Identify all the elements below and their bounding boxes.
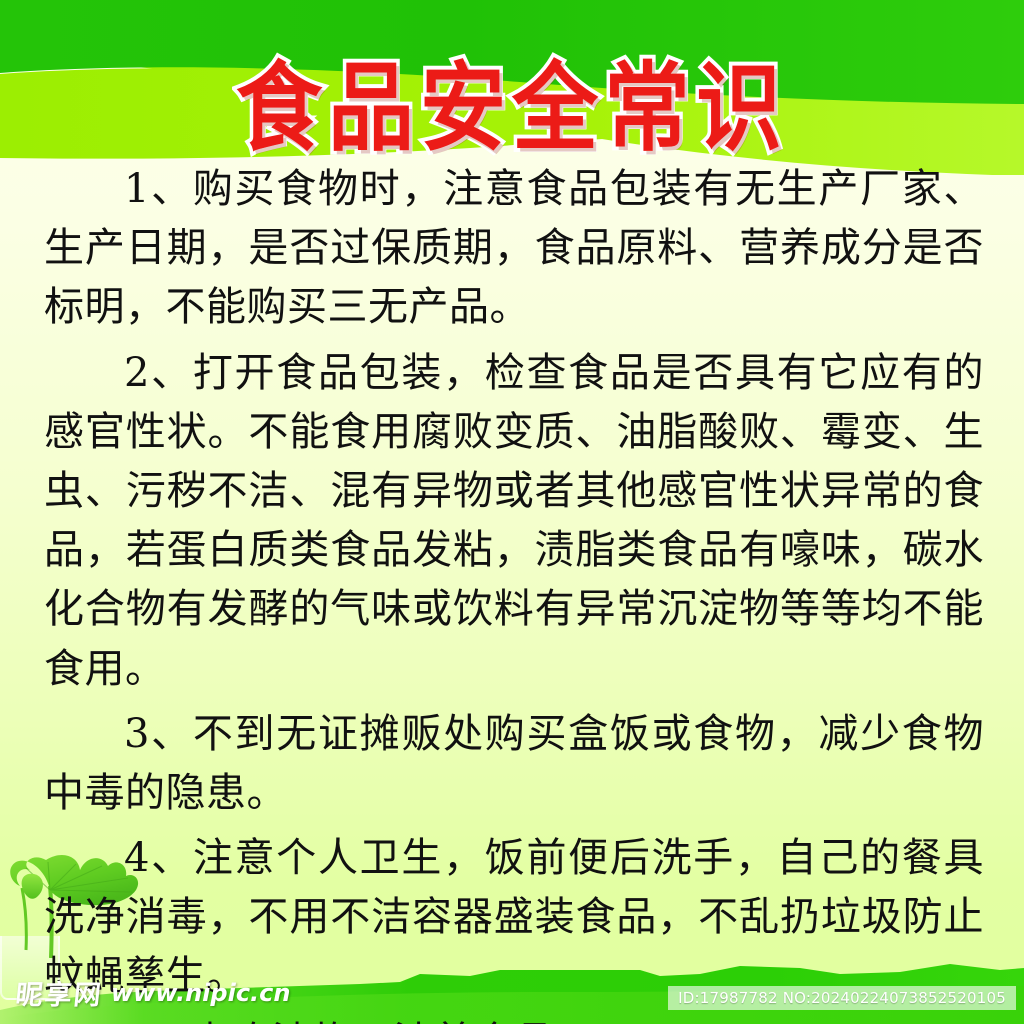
watermark-url: www.nipic.cn	[111, 979, 290, 1007]
paragraph-3: 3、不到无证摊贩处购买盒饭或食物，减少食物中毒的隐患。	[44, 705, 984, 823]
watermark-logo: 昵享网	[14, 973, 105, 1012]
page-title: 食品安全常识	[236, 61, 788, 157]
paragraph-1: 1、购买食物时，注意食品包装有无生产厂家、生产日期，是否过保质期，食品原料、营养…	[44, 160, 984, 338]
poster-canvas: 食品安全常识 1、购买食物时，注意食品包装有无生产厂家、生产日期，是否过保质期，…	[0, 0, 1024, 1024]
content-body: 1、购买食物时，注意食品包装有无生产厂家、生产日期，是否过保质期，食品原料、营养…	[44, 160, 984, 1024]
title-container: 食品安全常识	[0, 66, 1024, 152]
watermark: 昵享网 www.nipic.cn	[16, 973, 290, 1012]
image-id-tag: ID:17987782 NO:20240224073852520105	[668, 986, 1016, 1010]
paragraph-2: 2、打开食品包装，检查食品是否具有它应有的感官性状。不能食用腐败变质、油脂酸败、…	[44, 344, 984, 699]
paragraph-5: 5、少吃油炸、油煎食品。	[44, 1013, 984, 1024]
